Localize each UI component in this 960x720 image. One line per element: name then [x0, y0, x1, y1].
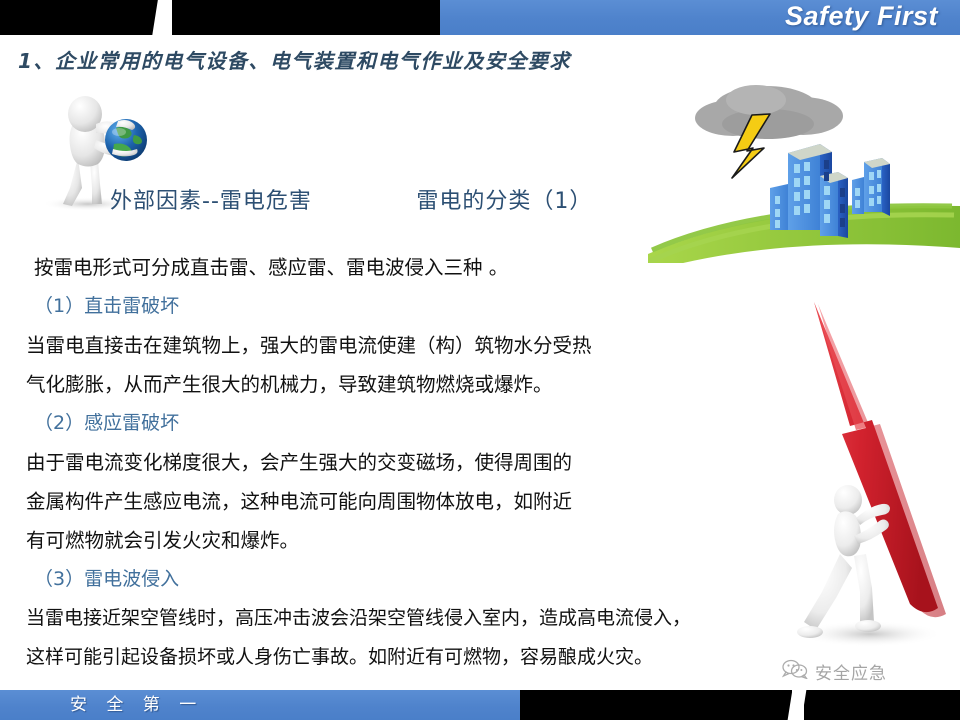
globe-highlight [112, 128, 126, 136]
subheading-row: 外部因素--雷电危害 雷电的分类（1） [110, 183, 670, 215]
body-text-block: 按雷电形式可分成直击雷、感应雷、雷电波侵入三种 。 （1）直击雷破坏 当雷电直接… [26, 248, 726, 677]
body-para3-line1: 当雷电接近架空管线时，高压冲击波会沿架空管线侵入室内，造成高电流侵入， [26, 599, 726, 638]
watermark-text: 安全应急 [815, 659, 887, 684]
header-black-block-right [172, 0, 440, 35]
brand-title: Safety First [785, 0, 938, 34]
body-heading-3: （3）雷电波侵入 [26, 560, 726, 599]
body-para3-line2: 这样可能引起设备损坏或人身伤亡事故。如附近有可燃物，容易酿成火灾。 [26, 638, 726, 677]
body-para1-line2: 气化膨胀，从而产生很大的机械力，导致建筑物燃烧或爆炸。 [26, 365, 726, 404]
building-right-side [882, 158, 890, 216]
figure-front-leg [854, 554, 874, 622]
body-para2-line2: 金属构件产生感应电流，这种电流可能向周围物体放电，如附近 [26, 482, 726, 521]
watermark: 安全应急 [782, 658, 887, 684]
footer-slogan: 安 全 第 一 [70, 690, 203, 720]
body-heading-2: （2）感应雷破坏 [26, 404, 726, 443]
slide-canvas: Safety First 1、企业常用的电气设备、电气装置和电气作业及安全要求 [0, 0, 960, 720]
header-bar: Safety First [0, 0, 960, 35]
footer-bar: 安 全 第 一 [0, 690, 960, 720]
subheading-right: 雷电的分类（1） [416, 189, 592, 214]
page-title: 1、企业常用的电气设备、电气装置和电气作业及安全要求 [18, 45, 571, 74]
body-para2-line1: 由于雷电流变化梯度很大，会产生强大的交变磁场，使得周围的 [26, 443, 726, 482]
footer-black-block-left [520, 690, 792, 720]
figure-pushing-red-arrow-graphic [760, 292, 960, 664]
arrow-head-highlight [814, 302, 866, 430]
figure-back-foot [797, 626, 823, 638]
storm-cloud [695, 85, 843, 139]
figure-back-leg [804, 554, 852, 630]
figure-head [834, 485, 862, 515]
subheading-left: 外部因素--雷电危害 [110, 189, 312, 214]
header-black-block-left [0, 0, 158, 35]
figure-front-foot [855, 620, 881, 632]
footer-black-block-right [804, 690, 960, 720]
body-para1-line1: 当雷电直接击在建筑物上，强大的雷电流使建（构）筑物水分受热 [26, 326, 726, 365]
pushing-figure [797, 485, 890, 638]
thunderstorm-over-city-graphic [648, 78, 960, 263]
body-para2-line3: 有可燃物就会引发火灾和爆炸。 [26, 521, 726, 560]
wechat-bubbles-icon [782, 659, 808, 684]
body-intro-line: 按雷电形式可分成直击雷、感应雷、雷电波侵入三种 。 [26, 248, 726, 287]
body-heading-1: （1）直击雷破坏 [26, 287, 726, 326]
